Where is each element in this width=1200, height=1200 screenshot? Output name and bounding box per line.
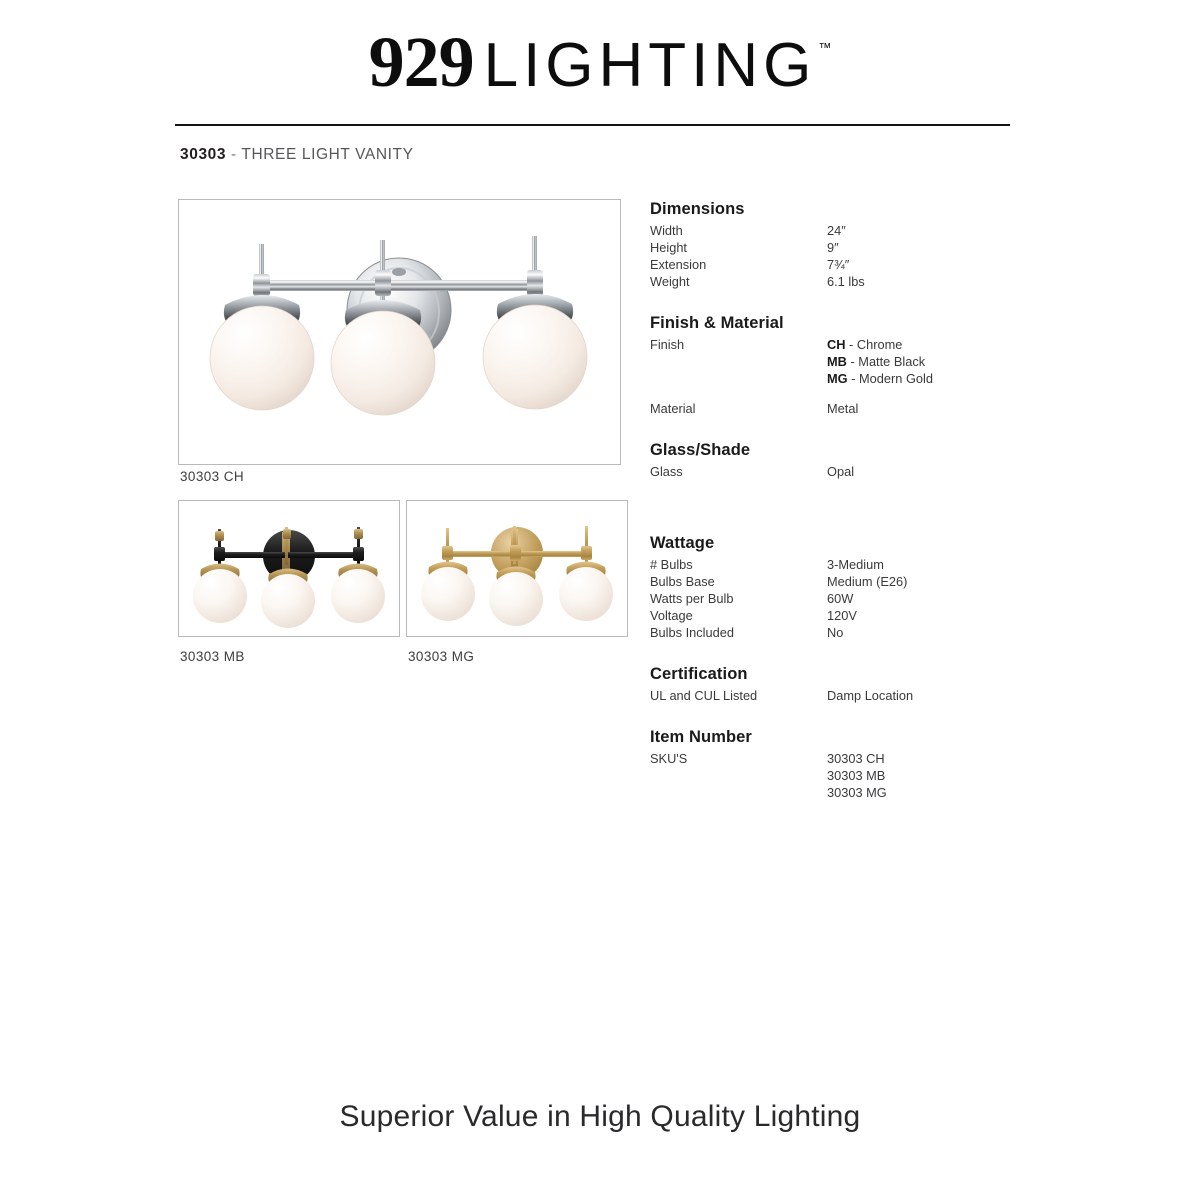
spec-value: Opal: [827, 463, 1050, 480]
spec-value: Metal: [827, 400, 1050, 417]
spec-value: 6.1 lbs: [827, 273, 1050, 290]
spec-value: Damp Location: [827, 687, 1050, 704]
spec-label-spacer: [650, 353, 827, 370]
spec-value: MB - Matte Black: [827, 353, 1050, 370]
finish-name: Modern Gold: [859, 371, 933, 386]
spec-row: Voltage120V: [650, 607, 1050, 624]
section-heading-item-number: Item Number: [650, 728, 1050, 747]
spec-label: Height: [650, 239, 827, 256]
spec-row: 30303 MG: [650, 784, 1050, 801]
globe-right: [483, 294, 587, 409]
finish-code: MG: [827, 371, 848, 386]
spec-value: 60W: [827, 590, 1050, 607]
spec-row: Bulbs BaseMedium (E26): [650, 573, 1050, 590]
sku-value: 30303 MB: [827, 767, 1050, 784]
vanity-fixture-modern-gold-illustration: [407, 501, 627, 636]
section-wattage: Wattage # Bulbs3-Medium Bulbs BaseMedium…: [650, 534, 1050, 641]
section-heading-wattage: Wattage: [650, 534, 1050, 553]
spec-row: SKU'S30303 CH: [650, 750, 1050, 767]
spec-row: Bulbs IncludedNo: [650, 624, 1050, 641]
spec-row: Width24″: [650, 222, 1050, 239]
spec-row: Material Metal: [650, 400, 1050, 417]
sku-value: 30303 MG: [827, 784, 1050, 801]
spec-label: Finish: [650, 336, 827, 353]
spec-row: 30303 MB: [650, 767, 1050, 784]
spec-row: Weight6.1 lbs: [650, 273, 1050, 290]
spec-label-spacer: [650, 784, 827, 801]
spec-label: SKU'S: [650, 750, 827, 767]
section-finish-material: Finish & Material Finish CH - Chrome MB …: [650, 314, 1050, 417]
backplate-screw-top: [392, 268, 406, 276]
finish-separator: -: [845, 337, 856, 352]
globe-right: [331, 564, 385, 624]
section-heading-finish-material: Finish & Material: [650, 314, 1050, 333]
spec-label: Bulbs Included: [650, 624, 827, 641]
spec-label: UL and CUL Listed: [650, 687, 827, 704]
spec-label: Glass: [650, 463, 827, 480]
spec-row: Finish CH - Chrome: [650, 336, 1050, 353]
spec-label: Bulbs Base: [650, 573, 827, 590]
spec-row: GlassOpal: [650, 463, 1050, 480]
section-item-number: Item Number SKU'S30303 CH 30303 MB 30303…: [650, 728, 1050, 801]
spec-row: UL and CUL ListedDamp Location: [650, 687, 1050, 704]
trademark-symbol: ™: [818, 40, 831, 55]
product-code: 30303: [180, 146, 226, 163]
section-certification: Certification UL and CUL ListedDamp Loca…: [650, 665, 1050, 704]
logo-929-text: 929: [369, 26, 474, 98]
spec-label: Watts per Bulb: [650, 590, 827, 607]
product-image-modern-gold: [406, 500, 628, 637]
caption-chrome: 30303 CH: [180, 469, 244, 484]
spec-value: CH - Chrome: [827, 336, 1050, 353]
brand-logo: 929 LIGHTING ™: [0, 26, 1200, 98]
specifications-panel: Dimensions Width24″ Height9″ Extension7¾…: [650, 200, 1050, 801]
product-image-chrome: [178, 199, 621, 465]
spec-row: MB - Matte Black: [650, 353, 1050, 370]
spec-value: 24″: [827, 222, 1050, 239]
footer-tagline: Superior Value in High Quality Lighting: [0, 1100, 1200, 1134]
product-name: THREE LIGHT VANITY: [241, 146, 413, 163]
globe-center: [489, 567, 543, 627]
spec-label: Material: [650, 400, 827, 417]
section-heading-glass-shade: Glass/Shade: [650, 441, 1050, 460]
spec-label: Width: [650, 222, 827, 239]
vanity-fixture-chrome-illustration: [179, 200, 620, 464]
globe-left: [210, 295, 314, 410]
spec-label-spacer: [650, 370, 827, 387]
caption-matte-black: 30303 MB: [180, 649, 245, 664]
finish-code: CH: [827, 337, 845, 352]
globe-left: [193, 564, 247, 624]
spec-value: No: [827, 624, 1050, 641]
globe-center: [261, 569, 315, 629]
spec-label-spacer: [650, 767, 827, 784]
caption-modern-gold: 30303 MG: [408, 649, 474, 664]
spec-row: Height9″: [650, 239, 1050, 256]
globe-left: [421, 562, 475, 622]
section-heading-certification: Certification: [650, 665, 1050, 684]
spec-value: 120V: [827, 607, 1050, 624]
spec-label: Extension: [650, 256, 827, 273]
spec-row: Extension7¾″: [650, 256, 1050, 273]
finish-separator: -: [847, 354, 858, 369]
spec-label: Weight: [650, 273, 827, 290]
sku-value: 30303 CH: [827, 750, 1050, 767]
spec-row: # Bulbs3-Medium: [650, 556, 1050, 573]
spec-value: 7¾″: [827, 256, 1050, 273]
logo-lighting-text: LIGHTING: [484, 35, 817, 97]
section-glass-shade: Glass/Shade GlassOpal: [650, 441, 1050, 480]
spec-value: Medium (E26): [827, 573, 1050, 590]
header-divider: [175, 124, 1010, 126]
spec-value: 9″: [827, 239, 1050, 256]
section-dimensions: Dimensions Width24″ Height9″ Extension7¾…: [650, 200, 1050, 290]
spec-row: Watts per Bulb60W: [650, 590, 1050, 607]
globe-right: [559, 562, 613, 622]
finish-name: Chrome: [857, 337, 903, 352]
finish-name: Matte Black: [858, 354, 925, 369]
section-heading-dimensions: Dimensions: [650, 200, 1050, 219]
vanity-fixture-matte-black-illustration: [179, 501, 399, 636]
spec-value: 3-Medium: [827, 556, 1050, 573]
spec-label: Voltage: [650, 607, 827, 624]
finish-separator: -: [848, 371, 859, 386]
spec-value: MG - Modern Gold: [827, 370, 1050, 387]
finish-code: MB: [827, 354, 847, 369]
globe-center: [331, 300, 435, 415]
spec-label: # Bulbs: [650, 556, 827, 573]
product-image-matte-black: [178, 500, 400, 637]
spec-row: MG - Modern Gold: [650, 370, 1050, 387]
title-separator: -: [226, 146, 241, 163]
page-title: 30303 - THREE LIGHT VANITY: [180, 146, 414, 164]
